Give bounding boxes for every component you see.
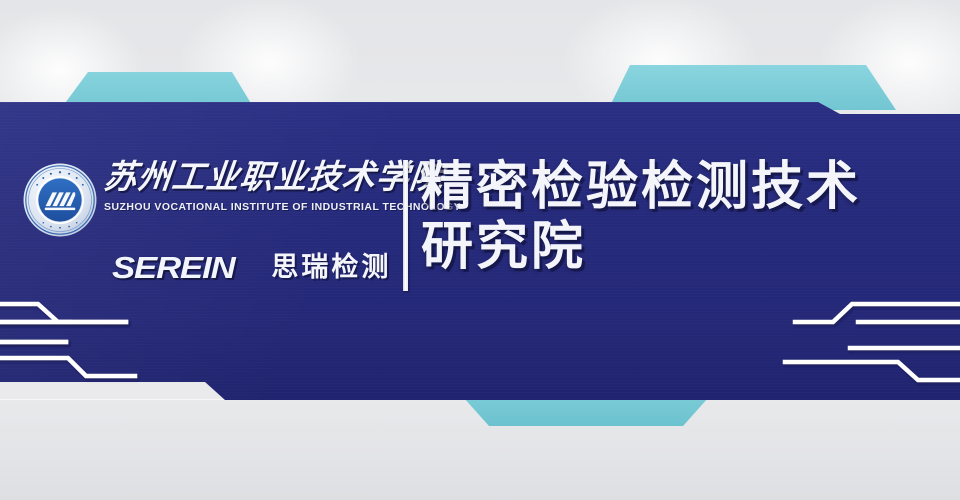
page-title-line-2: 研究院 bbox=[421, 217, 951, 277]
page-title-line-1: 精密检验检测技术 bbox=[421, 157, 951, 217]
school-identity-block: 苏州工业职业技术学院 SUZHOU VOCATIONAL INSTITUTE O… bbox=[104, 160, 399, 213]
school-name-en: SUZHOU VOCATIONAL INSTITUTE OF INDUSTRIA… bbox=[104, 201, 399, 213]
page-title: 精密检验检测技术 研究院 bbox=[421, 157, 951, 277]
vertical-divider bbox=[403, 160, 408, 291]
serein-name-cn: 思瑞检测 bbox=[271, 254, 391, 281]
institute-seal-icon bbox=[22, 162, 98, 238]
avatar bbox=[22, 162, 98, 238]
partner-brand-lockup: SEREIN 思瑞检测 bbox=[112, 252, 391, 283]
school-name-cn: 苏州工业职业技术学院 bbox=[102, 160, 400, 193]
signage-scene: 苏州工业职业技术学院 SUZHOU VOCATIONAL INSTITUTE O… bbox=[0, 0, 960, 500]
serein-wordmark: SEREIN bbox=[112, 252, 235, 283]
